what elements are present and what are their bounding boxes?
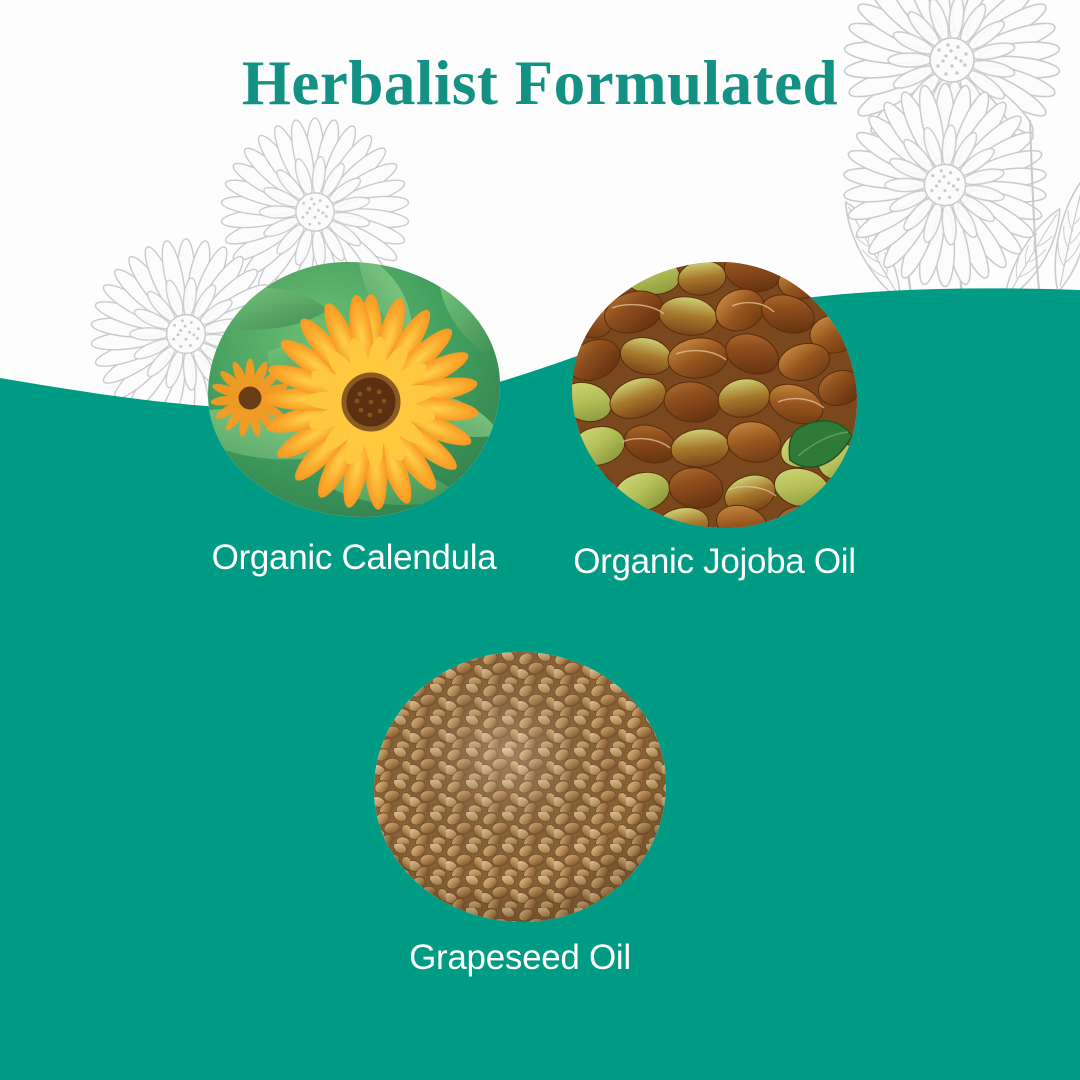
calendula-flower-illustration: [208, 262, 500, 517]
jojoba-seeds-illustration: [572, 262, 857, 528]
ingredient-calendula[interactable]: Organic Calendula: [208, 262, 500, 517]
ingredient-label-grapeseed: Grapeseed Oil: [409, 940, 631, 975]
grapeseed-photo: [374, 652, 666, 922]
ingredient-label-calendula: Organic Calendula: [212, 540, 497, 575]
calendula-photo: [208, 262, 500, 517]
page-title: Herbalist Formulated: [0, 52, 1080, 115]
ingredient-jojoba[interactable]: Organic Jojoba Oil: [572, 262, 857, 528]
jojoba-photo: [572, 262, 857, 528]
product-ingredients-graphic: Herbalist Formulated: [0, 0, 1080, 1080]
ingredient-grapeseed[interactable]: Grapeseed Oil: [374, 652, 666, 922]
grapeseed-illustration: [374, 652, 666, 922]
ingredient-label-jojoba: Organic Jojoba Oil: [573, 544, 856, 579]
